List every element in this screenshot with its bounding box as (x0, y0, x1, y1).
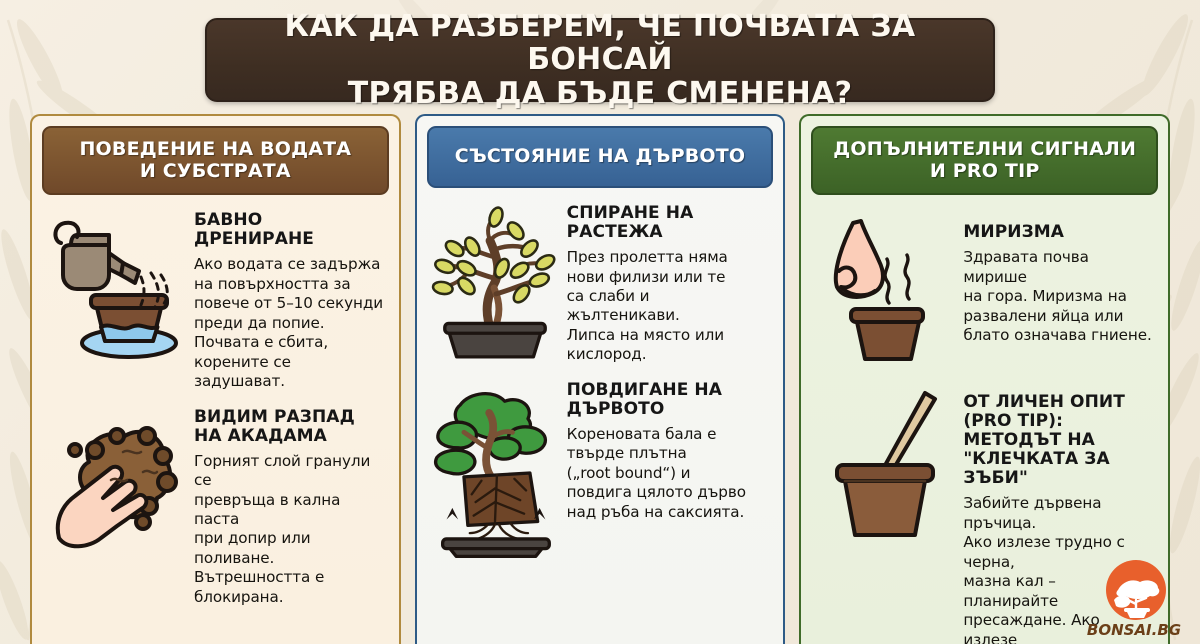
item-tree-lifting: ПОВДИГАНЕ НА ДЪРВОТО Кореновата бала е т… (427, 365, 774, 563)
toothpick-in-pot-icon (815, 383, 955, 547)
item-title: ОТ ЛИЧЕН ОПИТ (PRO TIP): МЕТОДЪТ НА "КЛЕ… (963, 393, 1154, 488)
item-body: СПИРАНЕ НА РАСТЕЖА През пролетта няма но… (567, 202, 770, 365)
item-growth-stop: СПИРАНЕ НА РАСТЕЖА През пролетта няма но… (427, 188, 774, 365)
column-tree-condition: СЪСТОЯНИЕ НА ДЪРВОТО (415, 114, 786, 644)
column-2-header: СЪСТОЯНИЕ НА ДЪРВОТО (427, 126, 774, 188)
page-title: КАК ДА РАЗБЕРЕМ, ЧЕ ПОЧВАТА ЗА БОНСАЙ ТР… (207, 10, 993, 111)
item-smell: МИРИЗМА Здравата почва мирише на гора. М… (811, 195, 1158, 365)
item-title: ПОВДИГАНЕ НА ДЪРВОТО (567, 381, 770, 419)
item-text: Ако водата се задържа на повърхността за… (194, 255, 385, 391)
item-text: Кореновата бала е твърде плътна („root b… (567, 425, 770, 522)
title-bar: КАК ДА РАЗБЕРЕМ, ЧЕ ПОЧВАТА ЗА БОНСАЙ ТР… (205, 18, 995, 102)
item-text: Здравата почва мирише на гора. Миризма н… (963, 248, 1154, 345)
bonsai-yellow-leaves-icon (431, 202, 559, 364)
item-title: БАВНО ДРЕНИРАНЕ (194, 211, 385, 249)
title-banner: КАК ДА РАЗБЕРЕМ, ЧЕ ПОЧВАТА ЗА БОНСАЙ ТР… (205, 18, 995, 102)
item-text: Забийте дървена пръчица. Ако излезе труд… (963, 494, 1154, 644)
watering-can-pot-puddle-icon (46, 209, 186, 363)
column-extra-signals: ДОПЪЛНИТЕЛНИ СИГНАЛИ И PRO TIP (799, 114, 1170, 644)
hand-muddy-soil-icon (46, 406, 186, 560)
column-3-header: ДОПЪЛНИТЕЛНИ СИГНАЛИ И PRO TIP (811, 126, 1158, 195)
item-body: ОТ ЛИЧЕН ОПИТ (PRO TIP): МЕТОДЪТ НА "КЛЕ… (963, 383, 1154, 644)
item-body: ВИДИМ РАЗПАД НА АКАДАМА Горният слой гра… (194, 406, 385, 608)
column-water-substrate: ПОВЕДЕНИЕ НА ВОДАТА И СУБСТРАТА (30, 114, 401, 644)
item-text: Горният слой гранули се превръща в кална… (194, 452, 385, 608)
item-body: БАВНО ДРЕНИРАНЕ Ако водата се задържа на… (194, 209, 385, 391)
column-1-header: ПОВЕДЕНИЕ НА ВОДАТА И СУБСТРАТА (42, 126, 389, 195)
columns-container: ПОВЕДЕНИЕ НА ВОДАТА И СУБСТРАТА (0, 114, 1200, 644)
item-title: МИРИЗМА (963, 223, 1154, 242)
item-body: ПОВДИГАНЕ НА ДЪРВОТО Кореновата бала е т… (567, 379, 770, 522)
item-slow-drainage: БАВНО ДРЕНИРАНЕ Ако водата се задържа на… (42, 195, 389, 391)
nose-smelling-pot-icon (815, 213, 955, 365)
item-title: ВИДИМ РАЗПАД НА АКАДАМА (194, 408, 385, 446)
item-akadama-breakdown: ВИДИМ РАЗПАД НА АКАДАМА Горният слой гра… (42, 392, 389, 608)
item-text: През пролетта няма нови филизи или те са… (567, 248, 770, 365)
bonsai-root-bound-lifting-icon (431, 379, 559, 563)
item-body: МИРИЗМА Здравата почва мирише на гора. М… (963, 213, 1154, 345)
item-title: СПИРАНЕ НА РАСТЕЖА (567, 204, 770, 242)
item-toothpick-protip: ОТ ЛИЧЕН ОПИТ (PRO TIP): МЕТОДЪТ НА "КЛЕ… (811, 365, 1158, 644)
infographic-page: КАК ДА РАЗБЕРЕМ, ЧЕ ПОЧВАТА ЗА БОНСАЙ ТР… (0, 0, 1200, 644)
